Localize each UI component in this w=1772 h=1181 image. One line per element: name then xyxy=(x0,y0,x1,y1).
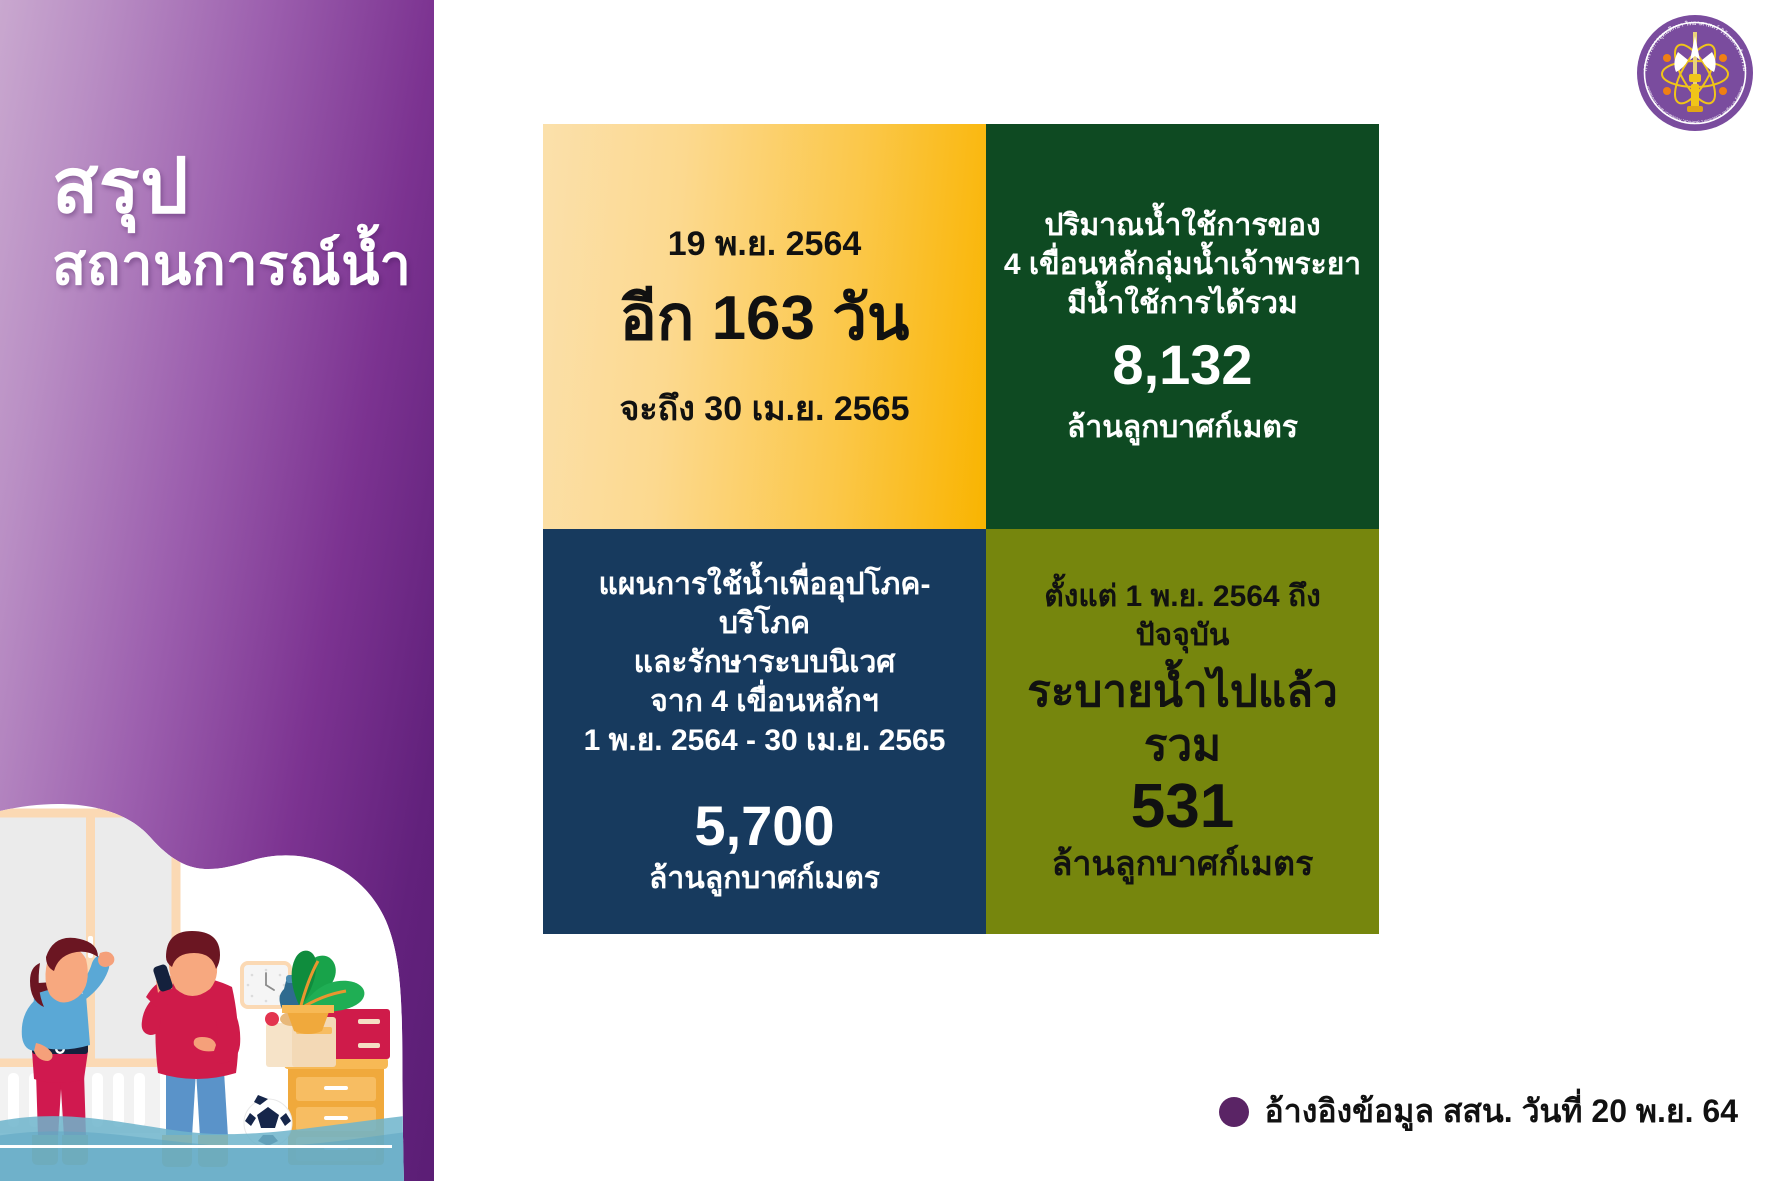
title-line-1: สรุป xyxy=(52,148,422,226)
stats-row-top: 19 พ.ย. 2564 อีก 163 วัน จะถึง 30 เม.ย. … xyxy=(543,124,1379,529)
water-plan-unit: ล้านลูกบาศก์เมตร xyxy=(649,859,880,898)
stats-grid: 19 พ.ย. 2564 อีก 163 วัน จะถึง 30 เม.ย. … xyxy=(543,124,1379,934)
countdown-days: อีก 163 วัน xyxy=(620,284,910,353)
quadrant-usable-water: ปริมาณน้ำใช้การของ 4 เขื่อนหลักลุ่มน้ำเจ… xyxy=(986,124,1379,529)
water-plan-line-3: จาก 4 เขื่อนหลักฯ xyxy=(650,682,878,721)
bullet-icon xyxy=(1219,1097,1249,1127)
discharged-line-2: ระบายน้ำไปแล้วรวม xyxy=(1000,665,1365,772)
flood-illustration xyxy=(0,751,434,1181)
usable-water-value: 8,132 xyxy=(1112,333,1252,397)
quadrant-countdown: 19 พ.ย. 2564 อีก 163 วัน จะถึง 30 เม.ย. … xyxy=(543,124,986,529)
water-plan-value: 5,700 xyxy=(694,794,834,858)
usable-water-line-2: 4 เขื่อนหลักลุ่มน้ำเจ้าพระยา xyxy=(1004,245,1361,284)
footer-source-text: อ้างอิงข้อมูล สสน. วันที่ 20 พ.ย. 64 xyxy=(1265,1086,1738,1137)
infographic-page: สรุป สถานการณ์น้ำ xyxy=(0,0,1772,1181)
title-line-2: สถานการณ์น้ำ xyxy=(52,232,422,298)
quadrant-water-plan: แผนการใช้น้ำเพื่ออุปโภค-บริโภค และรักษาร… xyxy=(543,529,986,934)
usable-water-line-1: ปริมาณน้ำใช้การของ xyxy=(1044,206,1320,245)
usable-water-line-3: มีน้ำใช้การได้รวม xyxy=(1067,284,1298,323)
left-purple-panel: สรุป สถานการณ์น้ำ xyxy=(0,0,434,1181)
usable-water-unit: ล้านลูกบาศก์เมตร xyxy=(1067,408,1298,447)
page-title: สรุป สถานการณ์น้ำ xyxy=(52,148,422,298)
water-plan-line-2: และรักษาระบบนิเวศ xyxy=(634,643,896,682)
ministry-logo: กระทรวงการอุดมศึกษา วิทยาศาสตร์ วิจัยและ… xyxy=(1634,12,1756,134)
countdown-until: จะถึง 30 เม.ย. 2565 xyxy=(619,387,909,431)
countdown-date: 19 พ.ย. 2564 xyxy=(668,222,862,266)
water-plan-line-1: แผนการใช้น้ำเพื่ออุปโภค-บริโภค xyxy=(557,565,972,643)
discharged-value: 531 xyxy=(1131,772,1234,841)
footer-source: อ้างอิงข้อมูล สสน. วันที่ 20 พ.ย. 64 xyxy=(1219,1086,1738,1137)
discharged-unit: ล้านลูกบาศก์เมตร xyxy=(1052,842,1314,886)
water-plan-period: 1 พ.ย. 2564 - 30 เม.ย. 2565 xyxy=(584,721,946,760)
stats-row-bottom: แผนการใช้น้ำเพื่ออุปโภค-บริโภค และรักษาร… xyxy=(543,529,1379,934)
discharged-line-1: ตั้งแต่ 1 พ.ย. 2564 ถึงปัจจุบัน xyxy=(1000,577,1365,655)
quadrant-discharged: ตั้งแต่ 1 พ.ย. 2564 ถึงปัจจุบัน ระบายน้ำ… xyxy=(986,529,1379,934)
